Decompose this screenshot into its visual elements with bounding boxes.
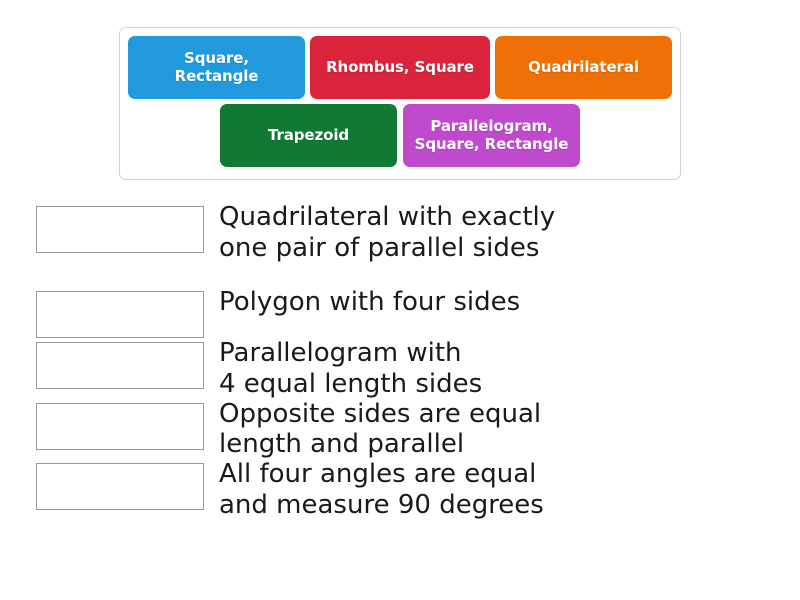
question-text: All four angles are equal and measure 90… <box>219 459 544 520</box>
question-text: Polygon with four sides <box>219 287 520 318</box>
question-text: Opposite sides are equal length and para… <box>219 399 541 460</box>
answer-drop-box[interactable] <box>36 463 204 510</box>
question-row: Opposite sides are equal length and para… <box>0 403 800 460</box>
tile-rhombus-square[interactable]: Rhombus, Square <box>310 36 490 99</box>
question-row: Parallelogram with 4 equal length sides <box>0 342 800 399</box>
question-text: Quadrilateral with exactly one pair of p… <box>219 202 555 263</box>
question-row: Polygon with four sides <box>0 291 800 338</box>
tile-trapezoid[interactable]: Trapezoid <box>220 104 397 167</box>
match-up-activity: Square, Rectangle Rhombus, Square Quadri… <box>0 0 800 600</box>
tile-quadrilateral[interactable]: Quadrilateral <box>495 36 672 99</box>
tile-tray-row-2: Trapezoid Parallelogram, Square, Rectang… <box>120 99 680 167</box>
tile-tray: Square, Rectangle Rhombus, Square Quadri… <box>119 27 681 180</box>
tile-tray-row-1: Square, Rectangle Rhombus, Square Quadri… <box>120 28 680 99</box>
answer-drop-box[interactable] <box>36 206 204 253</box>
answer-drop-box[interactable] <box>36 403 204 450</box>
answer-drop-box[interactable] <box>36 342 204 389</box>
question-text: Parallelogram with 4 equal length sides <box>219 338 482 399</box>
question-row: All four angles are equal and measure 90… <box>0 463 800 520</box>
question-row: Quadrilateral with exactly one pair of p… <box>0 206 800 263</box>
question-list: Quadrilateral with exactly one pair of p… <box>0 206 800 520</box>
tile-square-rectangle[interactable]: Square, Rectangle <box>128 36 305 99</box>
tile-parallelogram-square-rectangle[interactable]: Parallelogram, Square, Rectangle <box>403 104 580 167</box>
answer-drop-box[interactable] <box>36 291 204 338</box>
